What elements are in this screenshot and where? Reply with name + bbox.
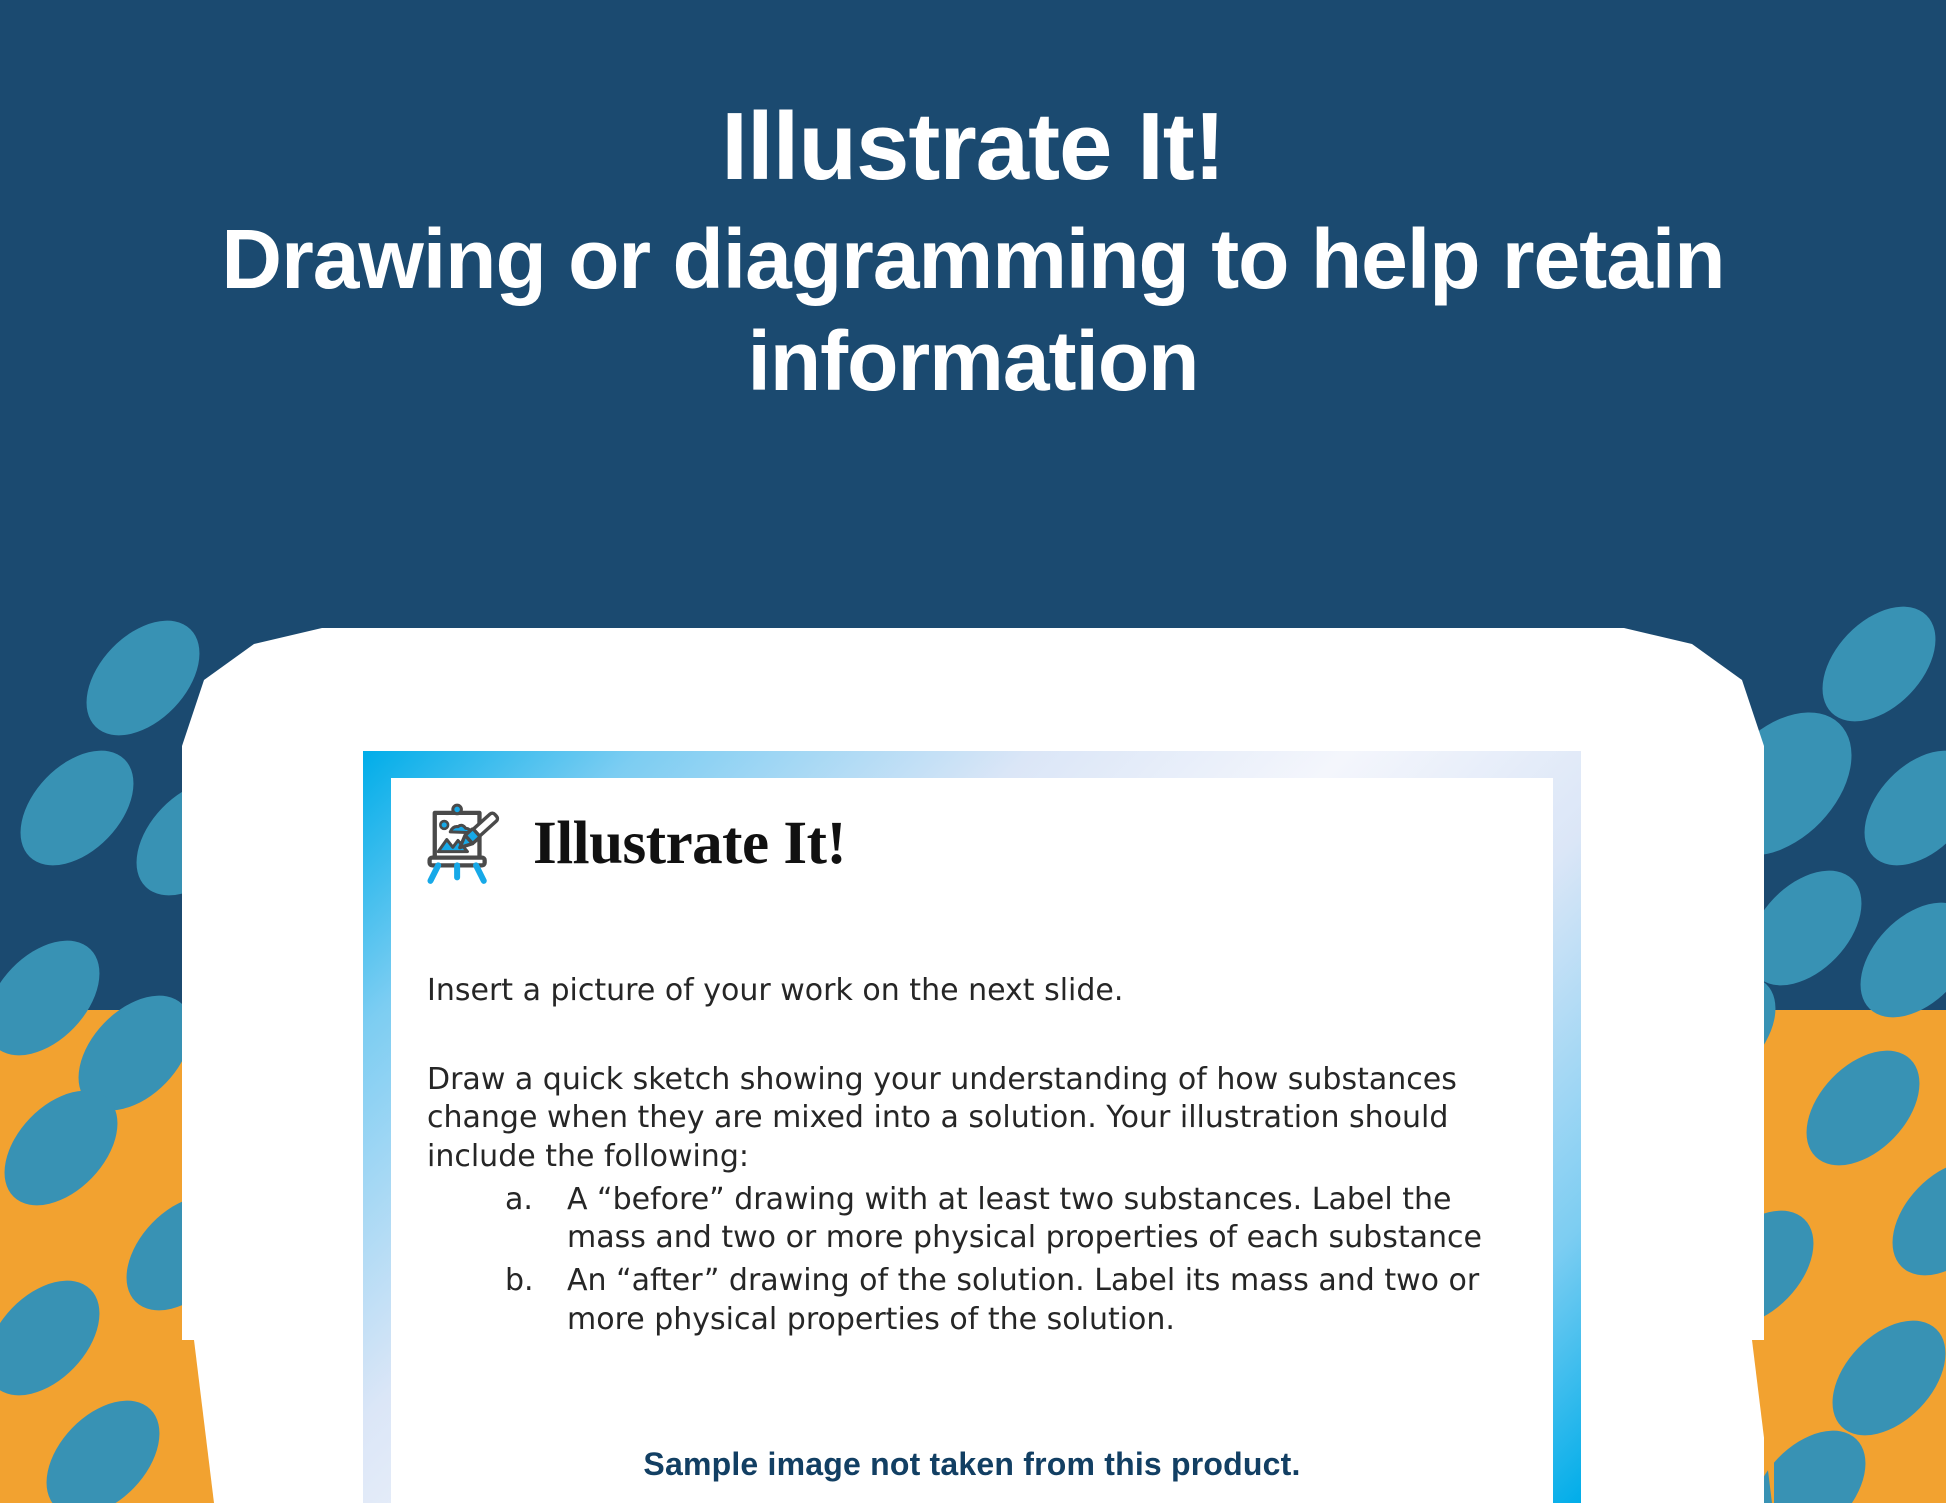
document-paragraph: Draw a quick sketch showing your underst… bbox=[427, 1061, 1513, 1177]
document-page: Illustrate It! Insert a picture of your … bbox=[391, 778, 1553, 1503]
headline-title: Illustrate It! bbox=[0, 96, 1946, 198]
headline-block: Illustrate It! Drawing or diagramming to… bbox=[0, 96, 1946, 413]
slide-canvas: Illustrate It! Drawing or diagramming to… bbox=[0, 0, 1946, 1503]
list-item-marker: a. bbox=[505, 1181, 555, 1220]
sample-image-disclaimer: Sample image not taken from this product… bbox=[391, 1446, 1553, 1483]
list-item: b. An “after” drawing of the solution. L… bbox=[505, 1262, 1513, 1339]
document-title: Illustrate It! bbox=[533, 813, 846, 874]
list-item: a. A “before” drawing with at least two … bbox=[505, 1181, 1513, 1258]
document-gradient-frame: Illustrate It! Insert a picture of your … bbox=[363, 751, 1581, 1503]
document-sublist: a. A “before” drawing with at least two … bbox=[427, 1181, 1513, 1340]
document-header: Illustrate It! bbox=[391, 778, 1553, 886]
document-lead-text: Insert a picture of your work on the nex… bbox=[427, 972, 1513, 1011]
list-item-text: A “before” drawing with at least two sub… bbox=[567, 1182, 1482, 1256]
easel-paintbrush-icon bbox=[421, 800, 507, 886]
list-item-marker: b. bbox=[505, 1262, 555, 1301]
document-body: Insert a picture of your work on the nex… bbox=[391, 972, 1553, 1340]
headline-subtitle: Drawing or diagramming to help retain in… bbox=[0, 208, 1946, 413]
list-item-text: An “after” drawing of the solution. Labe… bbox=[567, 1263, 1479, 1337]
